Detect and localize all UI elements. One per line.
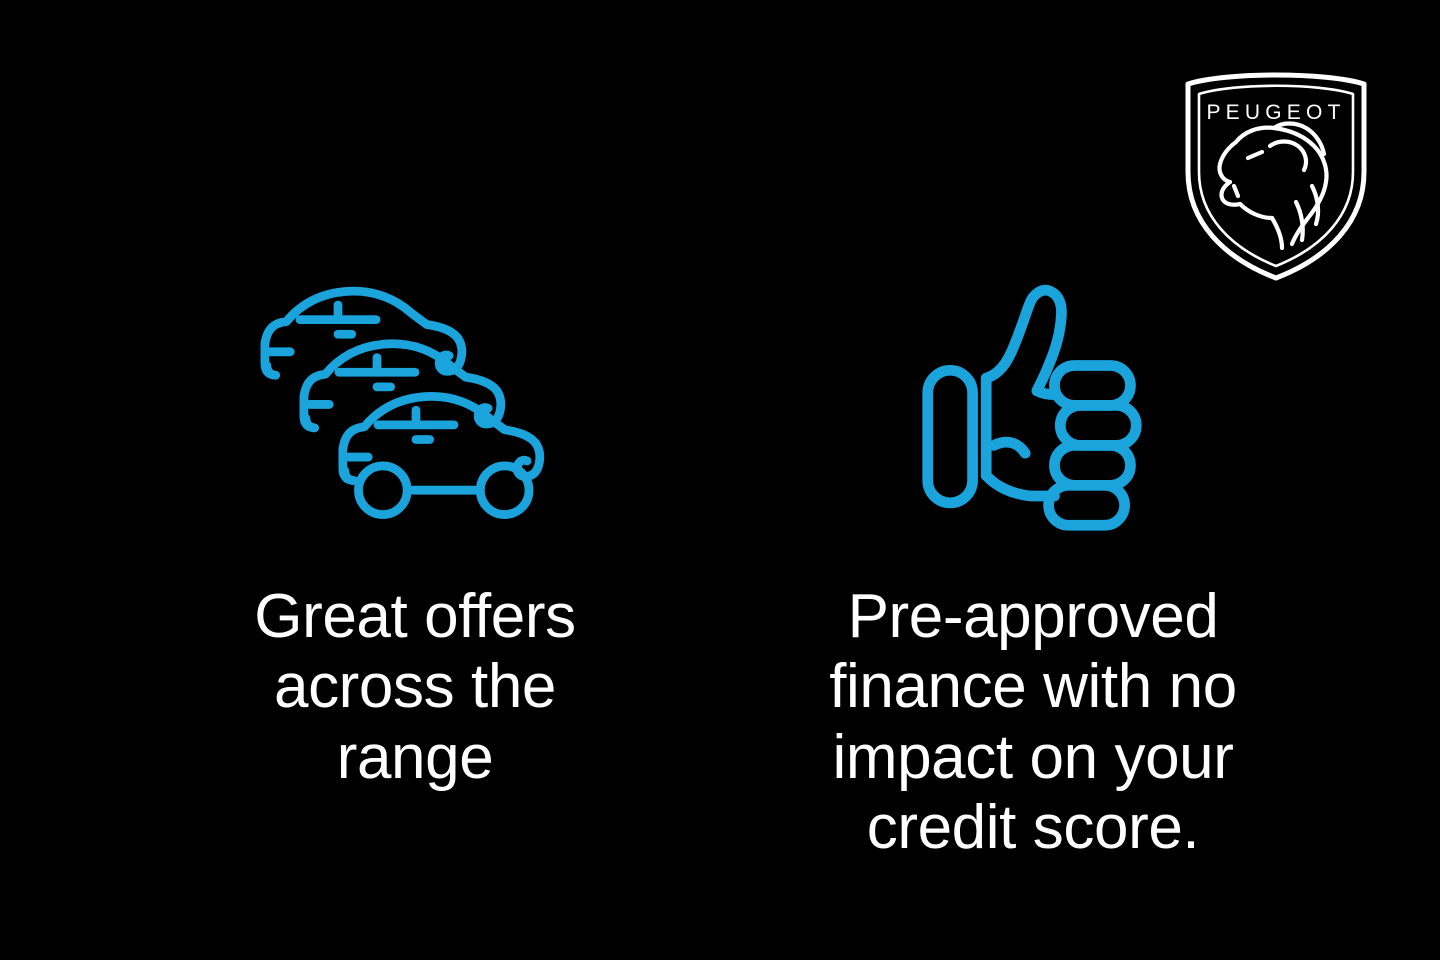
feature-caption-pre-approved-finance: Pre-approved finance with no impact on y…: [753, 582, 1313, 863]
finger-segment-4: [1049, 485, 1125, 525]
promo-panel: PEUGEOT: [0, 0, 1440, 960]
finger-segment-1: [1054, 365, 1130, 405]
finger-segment-2: [1060, 405, 1136, 445]
feature-pre-approved-finance: Pre-approved finance with no impact on y…: [743, 268, 1323, 863]
feature-list: Great offers across the range: [0, 0, 1440, 960]
stacked-cars-icon: [249, 268, 581, 536]
thumb-cuff: [928, 370, 973, 503]
feature-great-offers: Great offers across the range: [135, 268, 695, 793]
finger-segment-3: [1054, 445, 1130, 485]
feature-caption-great-offers: Great offers across the range: [180, 582, 650, 793]
thumbs-up-icon: [915, 268, 1151, 536]
